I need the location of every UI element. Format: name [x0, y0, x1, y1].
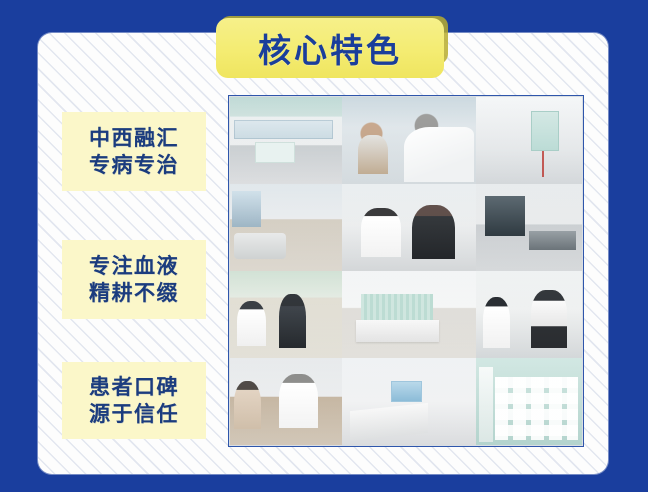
- photo-doctor-child-overlay: [342, 97, 476, 184]
- photo-pharmacy-sign: [476, 97, 582, 184]
- feature-2-line-2: 精耕不缀: [89, 280, 179, 307]
- feature-box-3: 患者口碑 源于信任: [62, 362, 206, 439]
- photo-ward-beds: [230, 184, 342, 271]
- feature-box-1: 中西融汇 专病专治: [62, 112, 206, 191]
- feature-box-2: 专注血液 精耕不缀: [62, 240, 206, 319]
- feature-3-line-1: 患者口碑: [89, 374, 179, 401]
- feature-3-line-2: 源于信任: [89, 401, 179, 428]
- feature-2-line-1: 专注血液: [89, 253, 179, 280]
- photo-clinic-window: [230, 271, 342, 358]
- photo-doctor-child: [342, 97, 476, 184]
- photo-equipment-room-overlay: [476, 184, 582, 271]
- title-banner: 核心特色: [216, 18, 444, 78]
- photo-ward-beds-overlay: [230, 184, 342, 271]
- photo-collage-frame: [228, 95, 584, 447]
- photo-equipment-room: [476, 184, 582, 271]
- photo-corridor-overlay: [342, 358, 476, 445]
- feature-1-line-2: 专病专治: [89, 152, 179, 179]
- photo-pharmacy-sign-overlay: [476, 97, 582, 184]
- photo-lobby-reception: [342, 271, 476, 358]
- feature-1-line-1: 中西融汇: [89, 125, 179, 152]
- photo-lobby-reception-overlay: [342, 271, 476, 358]
- photo-corridor: [342, 358, 476, 445]
- photo-lab-counter-overlay: [230, 97, 342, 184]
- photo-consultation: [342, 184, 476, 271]
- photo-consultation-overlay: [342, 184, 476, 271]
- photo-doctor-board-overlay: [476, 358, 582, 445]
- photo-collage: [230, 97, 582, 445]
- photo-doctor-board: [476, 358, 582, 445]
- photo-three-people: [476, 271, 582, 358]
- photo-elderly-doctor: [230, 358, 342, 445]
- photo-clinic-window-overlay: [230, 271, 342, 358]
- photo-elderly-doctor-overlay: [230, 358, 342, 445]
- photo-three-people-overlay: [476, 271, 582, 358]
- page-title: 核心特色: [258, 24, 402, 72]
- photo-lab-counter: [230, 97, 342, 184]
- poster-canvas: 核心特色 中西融汇 专病专治 专注血液 精耕不缀 患者口碑 源于信任: [0, 0, 648, 492]
